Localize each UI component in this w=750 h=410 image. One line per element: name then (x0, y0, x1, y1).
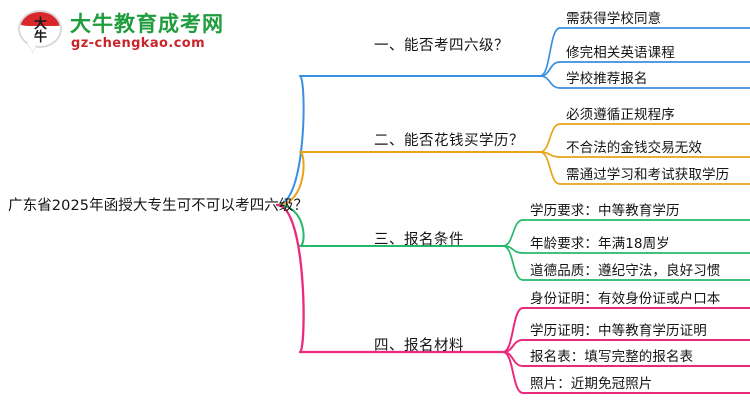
leaf-label-3-3[interactable]: 道德品质：遵纪守法，良好习惯 (530, 259, 720, 279)
logo-mark-line2: 牛 (18, 31, 62, 44)
leaf-label-2-2[interactable]: 不合法的金钱交易无效 (566, 136, 702, 156)
leaf-label-1-1[interactable]: 需获得学校同意 (566, 7, 661, 27)
site-logo[interactable]: 大 牛 大牛教育成考网 gz-chengkao.com (18, 6, 248, 58)
leaf-label-4-1[interactable]: 身份证明：有效身份证或户口本 (530, 287, 720, 307)
leaf-label-1-3[interactable]: 学校推荐报名 (566, 67, 648, 87)
leaf-label-2-1[interactable]: 必须遵循正规程序 (566, 103, 675, 123)
logo-wordmark: 大牛教育成考网 (70, 8, 224, 38)
mindmap-root-node[interactable]: 广东省2025年函授大专生可不可以考四六级？ (8, 194, 308, 215)
leaf-label-3-1[interactable]: 学历要求：中等教育学历 (530, 199, 680, 219)
branch-label-3[interactable]: 三、报名条件 (374, 228, 464, 249)
leaf-label-4-2[interactable]: 学历证明：中等教育学历证明 (530, 319, 707, 339)
leaf-label-3-2[interactable]: 年龄要求：年满18周岁 (530, 232, 670, 252)
branch-label-2[interactable]: 二、能否花钱买学历？ (374, 129, 524, 150)
leaf-label-1-2[interactable]: 修完相关英语课程 (566, 41, 675, 61)
branch-label-1[interactable]: 一、能否考四六级？ (374, 34, 509, 55)
mindmap-canvas: 大 牛 大牛教育成考网 gz-chengkao.com 广东省2025年函授大专… (0, 0, 750, 410)
leaf-label-4-3[interactable]: 报名表：填写完整的报名表 (530, 345, 693, 365)
leaf-label-4-4[interactable]: 照片：近期免冠照片 (530, 372, 652, 392)
leaf-label-2-3[interactable]: 需通过学习和考试获取学历 (566, 163, 729, 183)
branch-label-4[interactable]: 四、报名材料 (374, 334, 464, 355)
logo-bubble-icon: 大 牛 (18, 10, 62, 52)
logo-domain: gz-chengkao.com (71, 36, 205, 51)
